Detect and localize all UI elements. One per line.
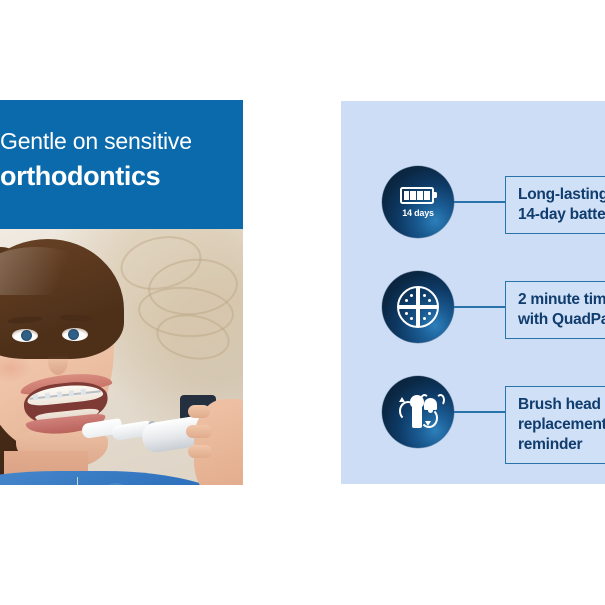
braces-bracket — [45, 393, 51, 399]
model-finger — [188, 405, 210, 418]
feature-callout-box: 2 minute timer with QuadPacer — [505, 281, 605, 339]
feature-text: 2 minute timer with QuadPacer — [518, 290, 605, 330]
feature-text: Long-lasting 14-day battery — [518, 185, 605, 225]
braces-bracket — [33, 394, 39, 400]
feature-row: 2 minute timer with QuadPacer — [341, 271, 605, 343]
quadpacer-glyph — [397, 286, 439, 328]
battery-icon: 14 days — [382, 166, 454, 238]
connector-line — [454, 411, 506, 413]
model-nose — [48, 347, 68, 375]
connector-line — [454, 201, 506, 203]
quadpacer-timer-icon — [382, 271, 454, 343]
shirt-fold — [86, 483, 146, 485]
feature-callout-box: Long-lasting 14-day battery — [505, 176, 605, 234]
product-highlight-card: Gentle on sensitive orthodontics — [0, 100, 243, 485]
battery-days-label: 14 days — [402, 208, 434, 218]
feature-callout-box: Brush head replacement reminder — [505, 386, 605, 464]
braces-bracket — [69, 390, 75, 396]
headline-line-2: orthodontics — [0, 159, 223, 193]
connector-line — [454, 306, 506, 308]
feature-text: Brush head replacement reminder — [518, 395, 605, 455]
battery-glyph — [400, 187, 434, 204]
headline-banner: Gentle on sensitive orthodontics — [0, 100, 243, 229]
model-iris-left — [21, 330, 32, 341]
model-iris-right — [68, 329, 79, 340]
model-finger — [188, 445, 212, 458]
feature-row: 14 days Long-lasting 14-day battery — [341, 166, 605, 238]
brush-head-replacement-reminder-icon — [382, 376, 454, 448]
braces-bracket — [81, 389, 87, 395]
features-panel: 14 days Long-lasting 14-day battery — [341, 101, 605, 484]
model-finger — [186, 425, 212, 438]
brush-head-reminder-glyph — [395, 392, 441, 432]
lifestyle-photo — [0, 229, 243, 485]
model-necklace — [0, 477, 78, 485]
headline-line-1: Gentle on sensitive — [0, 126, 223, 156]
braces-bracket — [57, 391, 63, 397]
feature-row: Brush head replacement reminder — [341, 376, 605, 448]
